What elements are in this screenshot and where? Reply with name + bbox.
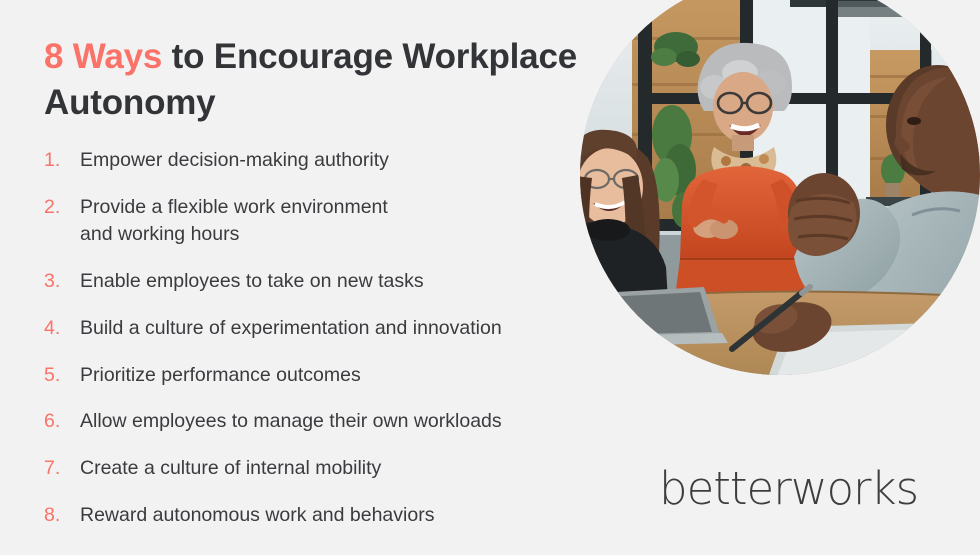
betterworks-logo: betterworks xyxy=(659,468,921,512)
list-item-number: 3. xyxy=(44,268,80,295)
list-item: 7. Create a culture of internal mobility xyxy=(44,455,604,482)
list-item-label: Provide a flexible work environment and … xyxy=(80,194,604,248)
page-title: 8 Ways to Encourage Workplace Autonomy xyxy=(44,34,604,125)
list-item: 8. Reward autonomous work and behaviors xyxy=(44,502,604,529)
list-item-number: 1. xyxy=(44,147,80,174)
office-team-photo xyxy=(580,0,980,375)
list-item-label: Allow employees to manage their own work… xyxy=(80,408,604,435)
list-item: 1. Empower decision-making authority xyxy=(44,147,604,174)
list-item-label: Create a culture of internal mobility xyxy=(80,455,604,482)
list-item-label: Reward autonomous work and behaviors xyxy=(80,502,604,529)
list-item-number: 5. xyxy=(44,362,80,389)
list-item: 5. Prioritize performance outcomes xyxy=(44,362,604,389)
logo-wordmark: betterworks xyxy=(659,468,918,512)
list-item-number: 7. xyxy=(44,455,80,482)
list-item-label: Build a culture of experimentation and i… xyxy=(80,315,604,342)
tips-list: 1. Empower decision-making authority 2. … xyxy=(44,147,604,529)
list-item-number: 6. xyxy=(44,408,80,435)
list-item-label: Enable employees to take on new tasks xyxy=(80,268,604,295)
list-item: 2. Provide a flexible work environment a… xyxy=(44,194,604,248)
list-item-label: Prioritize performance outcomes xyxy=(80,362,604,389)
infographic-slide: 8 Ways to Encourage Workplace Autonomy 1… xyxy=(0,0,980,555)
content-column: 8 Ways to Encourage Workplace Autonomy 1… xyxy=(44,34,604,529)
list-item: 3. Enable employees to take on new tasks xyxy=(44,268,604,295)
list-item-number: 4. xyxy=(44,315,80,342)
list-item-label: Empower decision-making authority xyxy=(80,147,604,174)
list-item-number: 2. xyxy=(44,194,80,221)
list-item: 6. Allow employees to manage their own w… xyxy=(44,408,604,435)
list-item: 4. Build a culture of experimentation an… xyxy=(44,315,604,342)
title-accent: 8 Ways xyxy=(44,37,162,76)
list-item-number: 8. xyxy=(44,502,80,529)
